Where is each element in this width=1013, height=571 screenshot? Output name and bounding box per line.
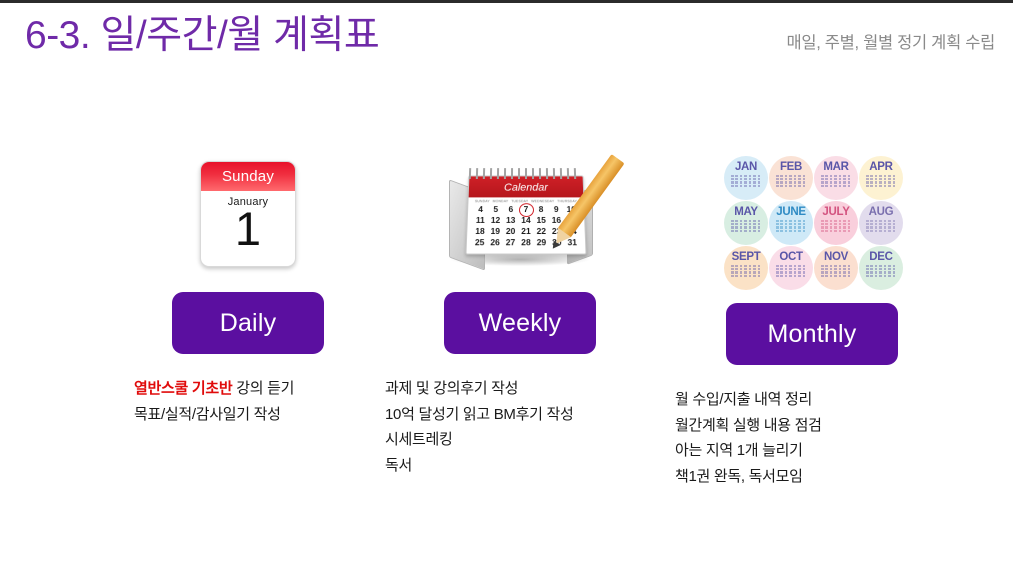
day-dot: [879, 271, 882, 273]
day-dot: [749, 175, 752, 177]
day-dot: [866, 185, 869, 187]
day-dot: [731, 175, 734, 177]
day-dot: [888, 175, 891, 177]
day-dot: [789, 181, 792, 183]
month-day-dots: [776, 220, 806, 232]
day-dot: [785, 268, 788, 270]
day-dot: [753, 271, 756, 273]
day-dot: [870, 230, 873, 232]
day-dot: [735, 220, 738, 222]
list-item-text: 10억 달성기 읽고 BM후기 작성: [385, 406, 573, 423]
day-dot: [785, 185, 788, 187]
page-subtitle: 매일, 주별, 월별 정기 계획 수립: [786, 29, 995, 53]
month-day-dots: [821, 265, 851, 277]
month-label: AUG: [869, 206, 894, 218]
month-day-dots: [776, 175, 806, 187]
month-label: JAN: [735, 161, 757, 173]
day-dot: [749, 223, 752, 225]
list-item: 책1권 완독, 독서모임: [675, 464, 952, 490]
day-dot: [834, 268, 837, 270]
day-dot: [821, 178, 824, 180]
day-dot: [794, 265, 797, 267]
day-dot: [785, 265, 788, 267]
day-dot: [803, 265, 806, 267]
day-dot: [731, 223, 734, 225]
day-dot: [740, 268, 743, 270]
day-dot: [875, 175, 878, 177]
month-label: APR: [869, 161, 892, 173]
day-dot: [776, 226, 779, 228]
day-dot: [848, 181, 851, 183]
day-dot: [888, 178, 891, 180]
day-dot: [735, 265, 738, 267]
day-dot: [870, 185, 873, 187]
day-dot: [798, 275, 801, 277]
day-dot: [740, 220, 743, 222]
list-item-text: 시세트레킹: [385, 431, 453, 448]
day-dot: [794, 268, 797, 270]
month-circle-june: JUNE: [769, 201, 813, 245]
day-dot: [825, 268, 828, 270]
day-dot: [888, 275, 891, 277]
day-dot: [780, 185, 783, 187]
day-dot: [731, 275, 734, 277]
day-dot: [839, 230, 842, 232]
day-dot: [785, 271, 788, 273]
day-dot: [893, 226, 896, 228]
day-dot: [735, 275, 738, 277]
day-dot: [780, 181, 783, 183]
day-dot: [735, 230, 738, 232]
day-cell: 20: [504, 226, 517, 237]
monthly-text-block: 월 수입/지출 내역 정리 월간계획 실행 내용 점검 아는 지역 1개 늘리기…: [672, 387, 952, 489]
day-dot: [830, 220, 833, 222]
day-dot: [825, 230, 828, 232]
day-dot: [753, 230, 756, 232]
calendar-spiral-rings: [469, 168, 581, 179]
day-dot: [884, 275, 887, 277]
day-dot: [884, 175, 887, 177]
day-dot: [785, 275, 788, 277]
day-dot: [839, 268, 842, 270]
highlight-text: 열반스쿨 기초반: [134, 380, 232, 397]
daily-text-block: 열반스쿨 기초반 강의 듣기 목표/실적/감사일기 작성: [118, 376, 378, 427]
day-dot: [843, 268, 846, 270]
day-dot: [789, 271, 792, 273]
day-dot: [848, 268, 851, 270]
day-dot: [848, 226, 851, 228]
day-dot: [825, 271, 828, 273]
day-dot: [893, 275, 896, 277]
day-dot: [848, 185, 851, 187]
day-dot: [893, 220, 896, 222]
day-dot: [803, 223, 806, 225]
day-dot: [758, 178, 761, 180]
day-dot: [821, 275, 824, 277]
day-dot: [839, 178, 842, 180]
day-dot: [735, 268, 738, 270]
day-dot: [749, 226, 752, 228]
day-dot: [884, 268, 887, 270]
day-dot: [848, 178, 851, 180]
day-dot: [879, 185, 882, 187]
day-dot: [785, 220, 788, 222]
month-circle-sept: SEPT: [724, 246, 768, 290]
day-dot: [830, 265, 833, 267]
list-item-text: 강의 듣기: [232, 380, 294, 397]
day-dot: [821, 265, 824, 267]
day-cell: 11: [474, 215, 487, 226]
day-dot: [888, 265, 891, 267]
day-dot: [803, 271, 806, 273]
list-item: 10억 달성기 읽고 BM후기 작성: [385, 402, 655, 428]
day-dot: [798, 265, 801, 267]
list-item: 독서: [385, 453, 655, 479]
day-dot: [875, 223, 878, 225]
day-cell: 28: [519, 237, 532, 248]
list-item: 과제 및 강의후기 작성: [385, 376, 655, 402]
day-cell: 19: [489, 226, 502, 237]
day-dot: [785, 181, 788, 183]
day-dot: [780, 175, 783, 177]
day-dot: [780, 230, 783, 232]
day-dot: [744, 275, 747, 277]
day-dot: [740, 226, 743, 228]
day-dot: [843, 220, 846, 222]
day-dot: [875, 230, 878, 232]
calendar-day-number: 1: [201, 207, 295, 251]
weekly-icon-wrap: Calendar SUNDAY MONDAY TUESDAY WEDNESDAY…: [385, 150, 655, 278]
day-dot: [866, 220, 869, 222]
day-dot: [843, 178, 846, 180]
desk-calendar-pencil-icon: Calendar SUNDAY MONDAY TUESDAY WEDNESDAY…: [445, 158, 595, 270]
weekday-label: MONDAY: [493, 199, 509, 203]
day-dot: [888, 185, 891, 187]
day-dot: [744, 265, 747, 267]
day-dot: [758, 275, 761, 277]
day-dot: [830, 230, 833, 232]
day-dot: [843, 275, 846, 277]
day-dot: [780, 271, 783, 273]
list-item-text: 독서: [385, 457, 412, 474]
day-dot: [839, 271, 842, 273]
day-cell: 25: [473, 237, 487, 248]
monthly-button[interactable]: Monthly: [726, 303, 898, 365]
day-cell: 22: [535, 226, 548, 237]
day-dot: [893, 178, 896, 180]
month-circle-feb: FEB: [769, 156, 813, 200]
day-dot: [744, 178, 747, 180]
day-dot: [830, 271, 833, 273]
day-dot: [731, 226, 734, 228]
day-dot: [744, 175, 747, 177]
day-dot: [848, 275, 851, 277]
day-dot: [884, 220, 887, 222]
day-dot: [753, 268, 756, 270]
day-dot: [753, 226, 756, 228]
day-dot: [825, 178, 828, 180]
day-dot: [740, 178, 743, 180]
day-dot: [780, 268, 783, 270]
day-dot: [789, 268, 792, 270]
twelve-months-grid-icon: JANFEBMARAPRMAYJUNEJULYAUGSEPTOCTNOVDEC: [724, 156, 900, 290]
day-dot: [825, 275, 828, 277]
day-dot: [794, 185, 797, 187]
day-dot: [888, 181, 891, 183]
day-dot: [758, 223, 761, 225]
weekly-button[interactable]: Weekly: [444, 292, 596, 354]
day-dot: [888, 230, 891, 232]
day-dot: [866, 230, 869, 232]
day-dot: [780, 226, 783, 228]
day-dot: [735, 271, 738, 273]
day-dot: [780, 265, 783, 267]
day-dot: [776, 265, 779, 267]
day-dot: [789, 185, 792, 187]
day-dot: [776, 185, 779, 187]
day-dot: [744, 230, 747, 232]
day-dot: [776, 181, 779, 183]
day-dot: [821, 220, 824, 222]
day-dot: [821, 185, 824, 187]
day-dot: [789, 175, 792, 177]
day-dot: [870, 275, 873, 277]
day-dot: [893, 265, 896, 267]
day-dot: [794, 220, 797, 222]
day-dot: [740, 223, 743, 225]
day-dot: [749, 275, 752, 277]
day-dot: [825, 185, 828, 187]
day-dot: [731, 271, 734, 273]
month-day-dots: [821, 175, 851, 187]
day-cell: 5: [489, 204, 502, 215]
day-dot: [798, 223, 801, 225]
day-dot: [875, 226, 878, 228]
day-dot: [731, 268, 734, 270]
day-dot: [848, 271, 851, 273]
list-item: 시세트레킹: [385, 427, 655, 453]
day-dot: [843, 265, 846, 267]
day-cell: 26: [488, 237, 501, 248]
month-circle-nov: NOV: [814, 246, 858, 290]
day-dot: [870, 223, 873, 225]
day-dot: [744, 226, 747, 228]
day-dot: [839, 275, 842, 277]
month-day-dots: [731, 265, 761, 277]
day-dot: [875, 275, 878, 277]
day-dot: [870, 226, 873, 228]
day-dot: [749, 265, 752, 267]
day-dot: [735, 181, 738, 183]
list-item-text: 월간계획 실행 내용 점검: [675, 417, 822, 434]
day-dot: [758, 226, 761, 228]
day-dot: [794, 226, 797, 228]
day-dot: [866, 271, 869, 273]
day-dot: [879, 220, 882, 222]
day-dot: [839, 220, 842, 222]
day-dot: [825, 220, 828, 222]
day-dot: [758, 181, 761, 183]
day-dot: [884, 271, 887, 273]
day-dot: [744, 271, 747, 273]
day-dot: [785, 223, 788, 225]
day-dot: [825, 226, 828, 228]
day-dot: [798, 175, 801, 177]
month-day-dots: [866, 220, 896, 232]
day-dot: [749, 185, 752, 187]
day-dot: [875, 268, 878, 270]
day-dot: [740, 175, 743, 177]
day-dot: [821, 175, 824, 177]
day-dot: [753, 275, 756, 277]
day-dot: [875, 178, 878, 180]
day-dot: [830, 268, 833, 270]
weekly-text-block: 과제 및 강의후기 작성 10억 달성기 읽고 BM후기 작성 시세트레킹 독서: [385, 376, 655, 478]
list-item: 월간계획 실행 내용 점검: [675, 413, 952, 439]
month-label: MAY: [734, 206, 758, 218]
day-cell: 12: [489, 215, 502, 226]
day-cell: 6: [504, 204, 517, 215]
day-dot: [744, 181, 747, 183]
day-dot: [749, 181, 752, 183]
day-dot: [744, 223, 747, 225]
day-dot: [884, 265, 887, 267]
day-dot: [893, 271, 896, 273]
day-dot: [753, 265, 756, 267]
month-label: JUNE: [776, 206, 805, 218]
list-item-text: 책1권 완독, 독서모임: [675, 468, 803, 485]
day-dot: [731, 220, 734, 222]
day-dot: [758, 230, 761, 232]
day-dot: [888, 271, 891, 273]
day-dot: [834, 275, 837, 277]
day-dot: [843, 271, 846, 273]
day-dot: [893, 181, 896, 183]
page-title: 6-3. 일/주간/월 계획표: [25, 14, 379, 59]
day-dot: [875, 185, 878, 187]
day-dot: [731, 230, 734, 232]
daily-button[interactable]: Daily: [172, 292, 324, 354]
day-dot: [848, 175, 851, 177]
day-dot: [740, 230, 743, 232]
day-dot: [830, 181, 833, 183]
day-dot: [839, 223, 842, 225]
calendar-title: Calendar: [469, 176, 584, 197]
day-dot: [803, 275, 806, 277]
day-dot: [884, 223, 887, 225]
day-dot: [866, 175, 869, 177]
day-dot: [888, 268, 891, 270]
day-dot: [848, 265, 851, 267]
day-dot: [794, 175, 797, 177]
day-dot: [776, 220, 779, 222]
day-dot: [789, 226, 792, 228]
day-dot: [731, 265, 734, 267]
day-dot: [780, 223, 783, 225]
day-dot: [803, 226, 806, 228]
weekday-label: THURSDAY: [557, 199, 577, 203]
day-dot: [875, 220, 878, 222]
day-dot: [753, 181, 756, 183]
day-dot: [735, 185, 738, 187]
day-dot: [794, 181, 797, 183]
day-dot: [870, 181, 873, 183]
day-dot: [803, 175, 806, 177]
day-dot: [803, 230, 806, 232]
day-dot: [825, 265, 828, 267]
month-label: JULY: [822, 206, 849, 218]
day-dot: [875, 181, 878, 183]
month-circle-may: MAY: [724, 201, 768, 245]
day-dot: [785, 175, 788, 177]
day-cell: 9: [550, 204, 563, 215]
day-cell: 4: [474, 204, 487, 215]
day-dot: [794, 275, 797, 277]
column-daily: Sunday January 1 Daily 열반스쿨 기초반 강의 듣기 목표…: [118, 150, 378, 427]
day-dot: [740, 271, 743, 273]
day-dot: [834, 265, 837, 267]
day-dot: [776, 223, 779, 225]
month-day-dots: [866, 175, 896, 187]
day-dot: [749, 220, 752, 222]
day-dot: [735, 226, 738, 228]
day-dot: [758, 271, 761, 273]
day-dot: [830, 226, 833, 228]
day-dot: [825, 181, 828, 183]
month-label: SEPT: [732, 251, 761, 263]
day-dot: [834, 230, 837, 232]
day-dot: [879, 175, 882, 177]
day-dot: [821, 223, 824, 225]
day-dot: [834, 181, 837, 183]
day-dot: [834, 175, 837, 177]
day-dot: [848, 223, 851, 225]
day-dot: [830, 275, 833, 277]
month-label: DEC: [869, 251, 892, 263]
column-weekly: Calendar SUNDAY MONDAY TUESDAY WEDNESDAY…: [385, 150, 655, 478]
day-dot: [843, 226, 846, 228]
weekday-label: WEDNESDAY: [531, 199, 554, 203]
list-item-text: 과제 및 강의후기 작성: [385, 380, 518, 397]
month-label: MAR: [823, 161, 848, 173]
month-day-dots: [866, 265, 896, 277]
day-dot: [794, 178, 797, 180]
day-cell: 29: [535, 237, 548, 248]
list-item: 목표/실적/감사일기 작성: [134, 402, 378, 428]
month-day-dots: [776, 265, 806, 277]
day-dot: [843, 181, 846, 183]
day-dot: [731, 178, 734, 180]
day-dot: [821, 226, 824, 228]
day-dot: [875, 265, 878, 267]
day-dot: [776, 268, 779, 270]
day-dot: [821, 271, 824, 273]
day-dot: [839, 181, 842, 183]
day-dot: [834, 226, 837, 228]
month-circle-mar: MAR: [814, 156, 858, 200]
list-item-text: 월 수입/지출 내역 정리: [675, 391, 812, 408]
day-dot: [870, 271, 873, 273]
month-circle-oct: OCT: [769, 246, 813, 290]
day-dot: [866, 178, 869, 180]
day-dot: [803, 181, 806, 183]
list-item: 열반스쿨 기초반 강의 듣기: [134, 376, 378, 402]
weekday-label: SUNDAY: [475, 199, 490, 203]
day-cell: 14: [519, 215, 532, 226]
day-dot: [866, 181, 869, 183]
day-dot: [758, 265, 761, 267]
day-dot: [731, 181, 734, 183]
